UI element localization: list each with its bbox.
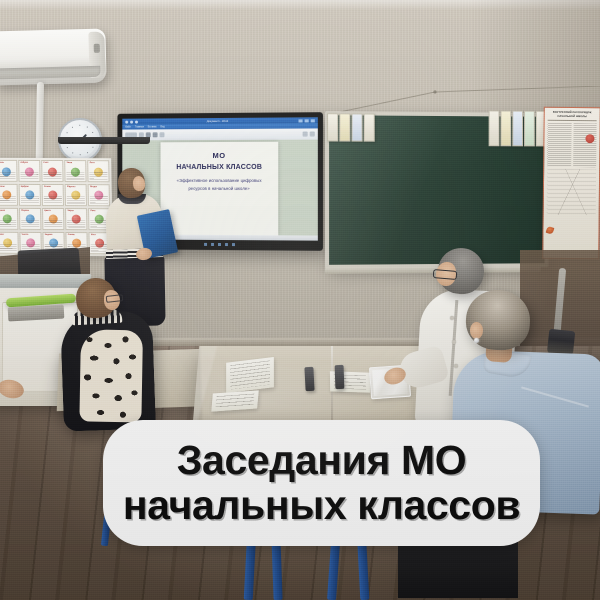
poster-card-title: Речь	[90, 210, 108, 213]
chalkboard-card-holder-right	[489, 110, 547, 146]
poster-card-text-lines	[21, 196, 39, 204]
poster-card: Фрукты	[65, 184, 87, 206]
handout-text-lines	[216, 394, 255, 409]
earring-icon	[474, 338, 479, 343]
poster-card: Буквы	[0, 184, 18, 206]
attendee-rf-ear	[470, 322, 483, 339]
shirt-button	[452, 340, 456, 344]
info-poster-title: ВНУТРЕННИЙ РАСПОРЯДОК НАЧАЛЬНОЙ ШКОЛЫ	[548, 111, 597, 119]
info-poster-stamp-icon	[585, 134, 594, 143]
attendee-left-torso	[60, 310, 156, 431]
poster-card-text-lines	[0, 220, 16, 228]
air-conditioner-vent	[0, 66, 101, 80]
redo-icon	[135, 120, 138, 123]
cabinet-top-surface	[0, 274, 92, 288]
marker-pen	[304, 367, 314, 391]
ribbon-tab[interactable]: Вставка	[148, 125, 157, 128]
green-chalkboard	[325, 111, 548, 269]
wall-info-poster: ВНУТРЕННИЙ РАСПОРЯДОК НАЧАЛЬНОЙ ШКОЛЫ	[542, 107, 600, 260]
close-icon[interactable]	[311, 119, 315, 122]
poster-card-title: Зима	[67, 162, 85, 165]
italic-icon[interactable]	[153, 132, 158, 137]
poster-card: Формы	[19, 208, 41, 230]
poster-card: Звуки	[65, 208, 87, 230]
poster-card-title: Формы	[21, 210, 39, 213]
window-controls[interactable]	[299, 119, 315, 122]
poster-card-text-lines	[68, 220, 86, 228]
document-page: МО НАЧАЛЬНЫХ КЛАССОВ «Эффективное исполь…	[161, 142, 279, 236]
poster-card: Зима	[64, 160, 86, 182]
poster-card-title: Фрукты	[67, 186, 85, 189]
chalkboard-card	[339, 113, 350, 141]
taskbar-pen-icon[interactable]	[224, 243, 227, 246]
shirt-button	[454, 364, 458, 368]
poster-card-title: Звуки	[67, 210, 85, 213]
ribbon-tab[interactable]: Главная	[135, 125, 144, 128]
poster-card-text-lines	[90, 173, 108, 181]
document-title-line2: НАЧАЛЬНЫХ КЛАССОВ	[167, 164, 271, 171]
poster-card-title: Азбука	[20, 162, 38, 165]
poster-card: Ягоды	[88, 184, 110, 206]
chalkboard-card	[524, 111, 535, 147]
photo-container: ОсеньАзбукаСчётЗимаЛетоБуквыЦифрыСловаФр…	[0, 0, 600, 600]
marker-pen	[335, 365, 345, 389]
poster-card: Текст	[0, 231, 18, 253]
poster-card: Цвета	[42, 208, 64, 230]
info-poster-column	[573, 123, 597, 167]
save-icon	[125, 120, 128, 123]
chalkboard-card	[327, 113, 338, 141]
poster-card-title: Задача	[45, 234, 63, 237]
poster-card-text-lines	[0, 172, 15, 180]
info-poster-text-lines	[573, 123, 597, 167]
chalkboard-card	[351, 113, 362, 141]
poster-card-text-lines	[21, 220, 39, 228]
chalkboard-card	[512, 111, 523, 147]
poster-card-title: Схема	[68, 234, 86, 237]
poster-card: Азбука	[18, 160, 40, 182]
ribbon-tab[interactable]: Файл	[125, 126, 131, 129]
chalkboard-card	[500, 110, 511, 146]
classroom-poster-board: ОсеньАзбукаСчётЗимаЛетоБуквыЦифрыСловаФр…	[0, 158, 113, 256]
handout-paper	[211, 390, 258, 411]
undo-icon	[130, 120, 133, 123]
poster-card-title: Ягоды	[90, 186, 108, 189]
poster-card-text-lines	[20, 172, 38, 180]
poster-card-text-lines	[67, 196, 85, 204]
poster-card: Слова	[42, 184, 64, 206]
poster-card-title: Цифры	[21, 186, 39, 189]
poster-card-title: Буквы	[0, 186, 15, 189]
app-quick-access	[125, 120, 138, 123]
info-poster-text-lines	[547, 122, 571, 166]
poster-card-title: Текст	[0, 233, 16, 236]
document-subtitle: «Эффективное использование цифровых ресу…	[167, 177, 271, 193]
app-title: Документ1 - Word	[207, 119, 228, 122]
poster-card-title: Лето	[90, 162, 108, 165]
poster-card-title: Число	[22, 234, 40, 237]
chalkboard-card	[489, 110, 500, 146]
info-poster-diagram	[547, 168, 596, 215]
leopard-print-pattern	[79, 329, 143, 422]
air-conditioner	[0, 29, 107, 86]
info-poster-column	[547, 122, 571, 166]
banner-line-1: Заседания МО	[177, 439, 466, 482]
info-poster-leaf-icon	[546, 226, 555, 235]
handout-paper	[226, 357, 274, 393]
document-title-line1: МО	[167, 151, 271, 160]
air-conditioner-led-icon	[94, 44, 100, 53]
poster-card: Счёт	[41, 160, 63, 182]
ribbon-tab[interactable]: Вид	[160, 125, 164, 128]
panel-mount-arm	[58, 137, 150, 144]
title-banner: Заседания МО начальных классов	[103, 420, 540, 546]
poster-card-text-lines	[44, 220, 62, 228]
poster-card-title: Осень	[0, 162, 15, 165]
shirt-button	[450, 316, 454, 320]
poster-card-text-lines	[67, 172, 85, 180]
banner-line-2: начальных классов	[123, 484, 520, 527]
styles-icon[interactable]	[303, 132, 308, 137]
poster-card-title: Время	[0, 210, 16, 213]
poster-card-title: Счёт	[43, 162, 61, 165]
poster-card: Время	[0, 208, 18, 230]
poster-card-title: Слова	[44, 186, 62, 189]
taskbar-apps-icon[interactable]	[211, 243, 214, 246]
poster-card-text-lines	[44, 172, 62, 180]
info-poster-rule	[548, 120, 597, 121]
grey-box-item	[8, 305, 65, 322]
align-icon[interactable]	[160, 132, 165, 137]
taskbar-settings-icon[interactable]	[231, 243, 234, 246]
poster-card: Осень	[0, 160, 17, 182]
chalkboard-card	[364, 113, 375, 141]
poster-card-text-lines	[44, 196, 62, 204]
info-poster-columns	[547, 122, 596, 167]
taskbar-back-icon[interactable]	[218, 243, 221, 246]
poster-card-text-lines	[0, 244, 16, 252]
poster-card-text-lines	[90, 196, 108, 204]
poster-card-text-lines	[0, 196, 16, 204]
poster-card-title: Цвета	[44, 210, 62, 213]
poster-card: Цифры	[19, 184, 41, 206]
taskbar-home-icon[interactable]	[204, 243, 207, 246]
poster-card: Лето	[88, 160, 110, 182]
handout-text-lines	[230, 360, 270, 389]
maximize-icon[interactable]	[305, 119, 309, 122]
find-icon[interactable]	[310, 131, 315, 136]
minimize-icon[interactable]	[299, 119, 303, 122]
chalkboard-card-holder-left	[327, 113, 375, 142]
